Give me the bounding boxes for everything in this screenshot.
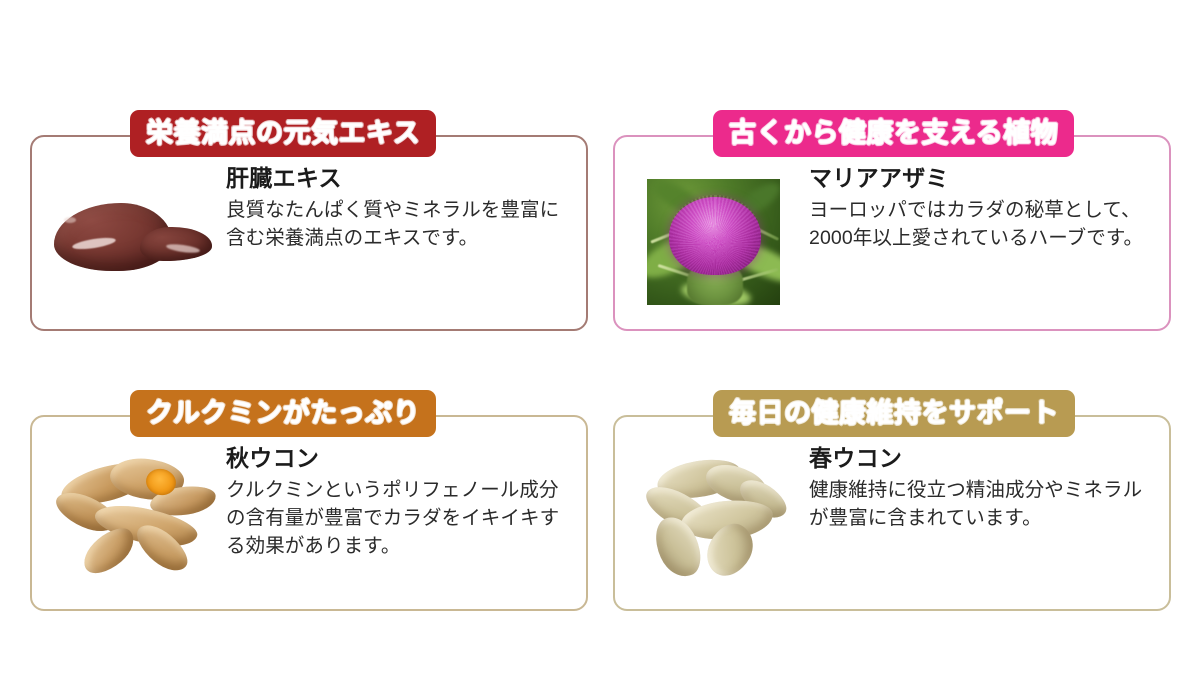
card-title-milk-thistle: マリアアザミ [809, 165, 1151, 193]
card-text-autumn-turmeric: 秋ウコン クルクミンというポリフェノール成分の含有量が豊富でカラダをイキイキする… [222, 443, 568, 560]
liver-highlight-c [64, 217, 76, 223]
card-description-milk-thistle: ヨーロッパではカラダの秘草として、2000年以上愛されているハーブです。 [809, 196, 1151, 252]
card-thumbnail-liver [46, 163, 222, 313]
thistle-photo-frame [647, 179, 780, 305]
ingredient-card-spring-turmeric[interactable]: 毎日の健康維持をサポート 春ウコン 健康維持に役立つ精 [613, 415, 1171, 611]
card-thumbnail-autumn-turmeric [46, 443, 222, 593]
spring-turmeric-illustration [637, 453, 803, 583]
card-body-milk-thistle: マリアアザミ ヨーロッパではカラダの秘草として、2000年以上愛されているハーブ… [615, 137, 1169, 329]
spring-turmeric-image [629, 443, 805, 593]
card-thumbnail-milk-thistle [629, 163, 805, 313]
card-body-liver: 肝臓エキス 良質なたんぱく質やミネラルを豊富に含む栄養満点のエキスです。 [32, 137, 586, 329]
ingredient-card-milk-thistle[interactable]: 古くから健康を支える植物 [613, 135, 1171, 331]
thistle-filaments [669, 195, 761, 275]
card-body-spring-turmeric: 春ウコン 健康維持に役立つ精油成分やミネラルが豊富に含まれています。 [615, 417, 1169, 609]
card-title-autumn-turmeric: 秋ウコン [226, 445, 568, 473]
liver-image [46, 163, 222, 313]
card-text-milk-thistle: マリアアザミ ヨーロッパではカラダの秘草として、2000年以上愛されているハーブ… [805, 163, 1151, 252]
liver-illustration [54, 199, 212, 273]
ingredient-card-liver[interactable]: 栄養満点の元気エキス 肝臓エキス 良質なたんぱく質やミネラルを豊富に含む栄養満点… [30, 135, 588, 331]
card-body-autumn-turmeric: 秋ウコン クルクミンというポリフェノール成分の含有量が豊富でカラダをイキイキする… [32, 417, 586, 609]
autumn-turmeric-image [46, 443, 222, 593]
autumn-turmeric-illustration [54, 453, 220, 583]
card-description-liver: 良質なたんぱく質やミネラルを豊富に含む栄養満点のエキスです。 [226, 196, 568, 252]
ingredient-card-autumn-turmeric[interactable]: クルクミンがたっぷり 秋ウコン [30, 415, 588, 611]
card-description-autumn-turmeric: クルクミンというポリフェノール成分の含有量が豊富でカラダをイキイキする効果があり… [226, 476, 568, 560]
card-title-spring-turmeric: 春ウコン [809, 445, 1151, 473]
card-thumbnail-spring-turmeric [629, 443, 805, 593]
card-description-spring-turmeric: 健康維持に役立つ精油成分やミネラルが豊富に含まれています。 [809, 476, 1151, 532]
ingredient-cards-board: 栄養満点の元気エキス 肝臓エキス 良質なたんぱく質やミネラルを豊富に含む栄養満点… [0, 0, 1200, 700]
card-text-liver: 肝臓エキス 良質なたんぱく質やミネラルを豊富に含む栄養満点のエキスです。 [222, 163, 568, 252]
card-title-liver: 肝臓エキス [226, 165, 568, 193]
milk-thistle-photo [629, 163, 805, 313]
card-text-spring-turmeric: 春ウコン 健康維持に役立つ精油成分やミネラルが豊富に含まれています。 [805, 443, 1151, 532]
